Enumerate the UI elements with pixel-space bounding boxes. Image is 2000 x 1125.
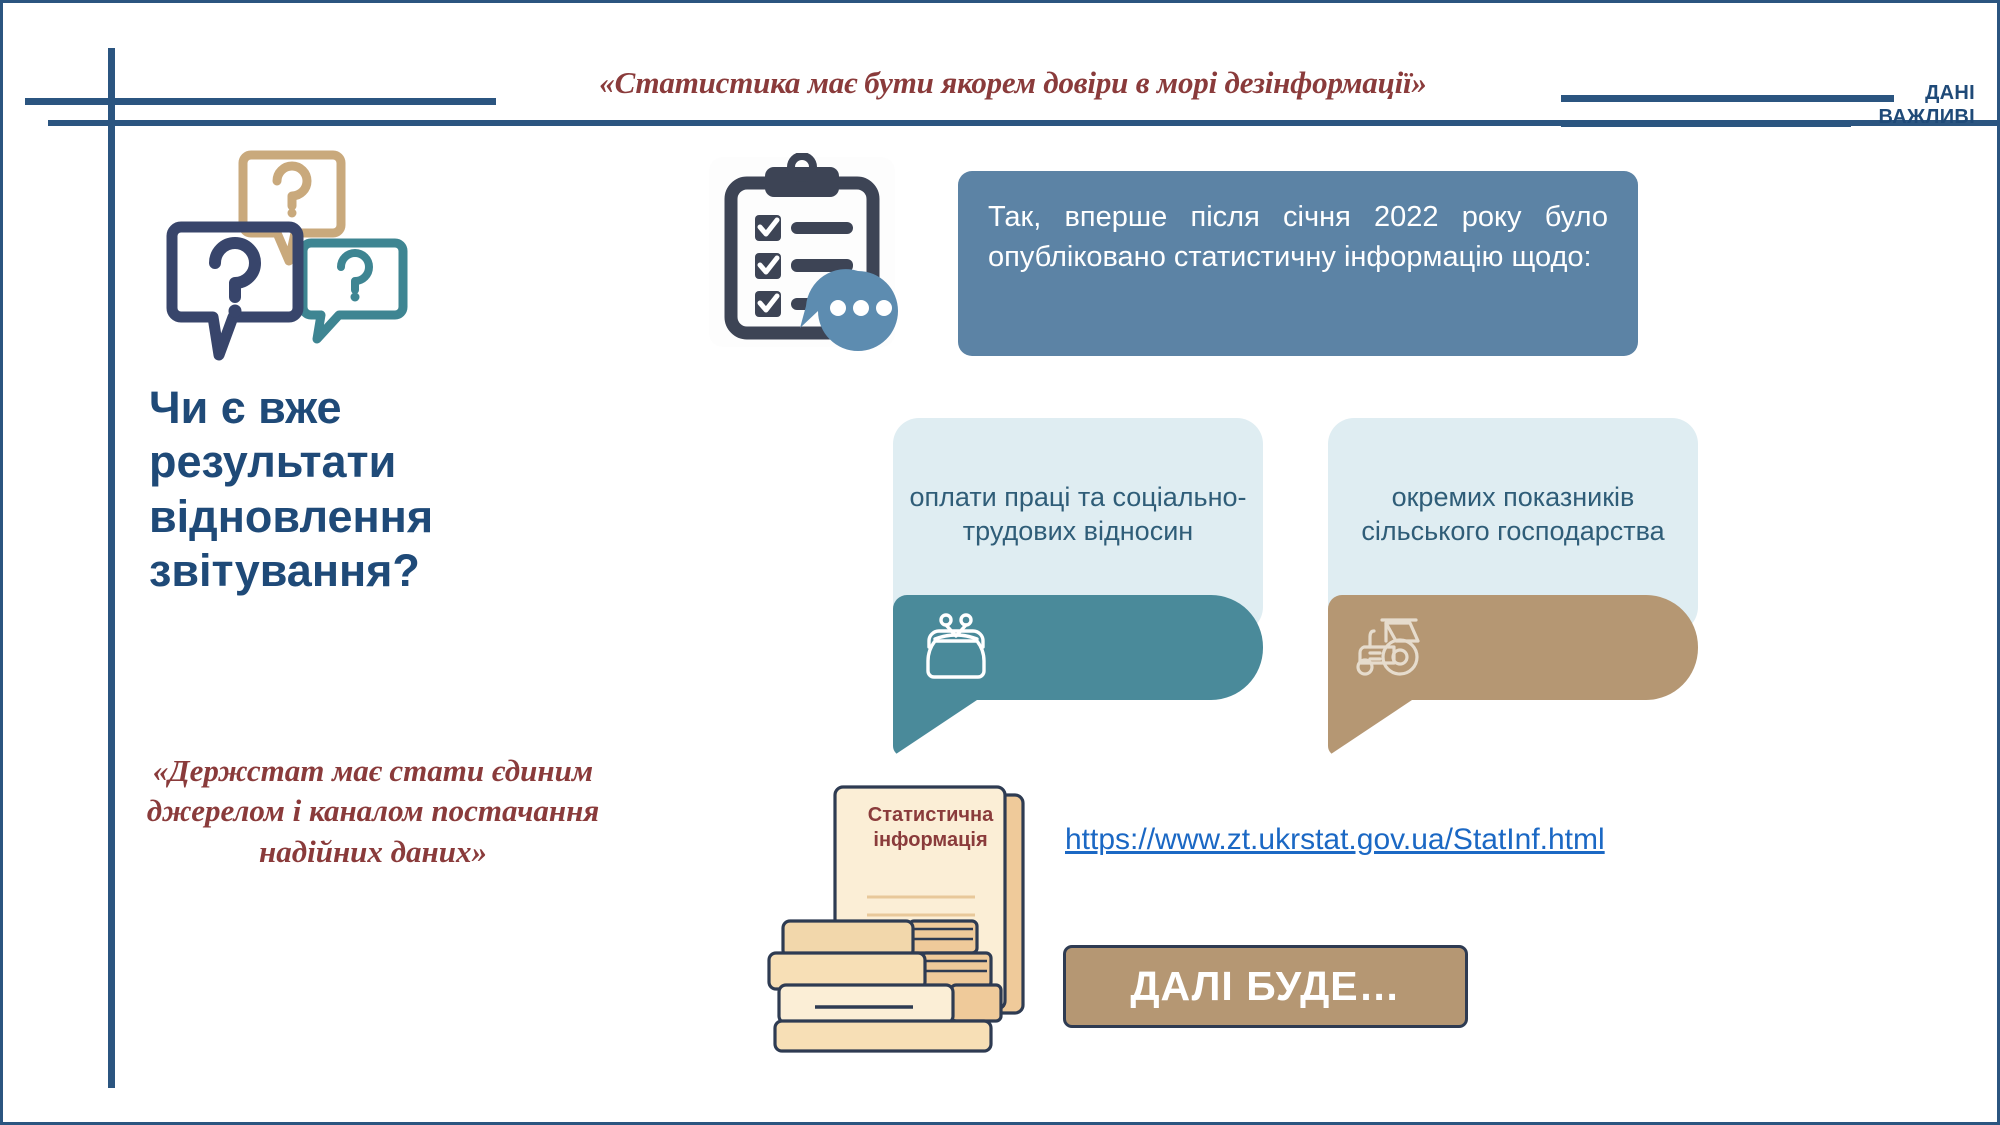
clipboard-checklist-icon (703, 153, 918, 353)
pull-quote: «Держстат має стати єдиним джерелом і ка… (103, 751, 643, 872)
purse-icon (917, 609, 995, 681)
slide-canvas: «Статистика має бути якорем довіри в мор… (0, 0, 2000, 1125)
next-button[interactable]: ДАЛІ БУДЕ… (1063, 945, 1468, 1028)
dotted-divider (665, 158, 683, 918)
brand-line-2: ВАЖЛИВІ (1879, 105, 1975, 129)
frame-vertical-line (108, 48, 115, 1088)
page-title: «Статистика має бути якорем довіри в мор… (483, 65, 1543, 101)
statinf-link[interactable]: https://www.zt.ukrstat.gov.ua/StatInf.ht… (1065, 823, 1605, 857)
callout-box: Так, вперше після січня 2022 року було о… (958, 171, 1638, 356)
tractor-icon (1352, 609, 1430, 681)
books-label: Статистична інформація (848, 803, 1013, 853)
header-rule-right-lower (1561, 120, 1851, 127)
header-rule-left (281, 98, 496, 105)
card-banner (893, 595, 1263, 700)
card-oplata-pratsi: оплати праці та соціально-трудових відно… (893, 418, 1263, 700)
header-rule-right-upper (1561, 95, 1894, 102)
section-heading: Чи є вже результати відновлення звітуван… (149, 381, 579, 599)
card-banner (1328, 595, 1698, 700)
question-speech-bubbles-icon (153, 143, 423, 368)
brand-logo: ДАНІ ВАЖЛИВІ (1879, 81, 1975, 130)
card-silske-hospodarstvo: окремих показників сільського господарст… (1328, 418, 1698, 700)
brand-line-1: ДАНІ (1879, 81, 1975, 105)
